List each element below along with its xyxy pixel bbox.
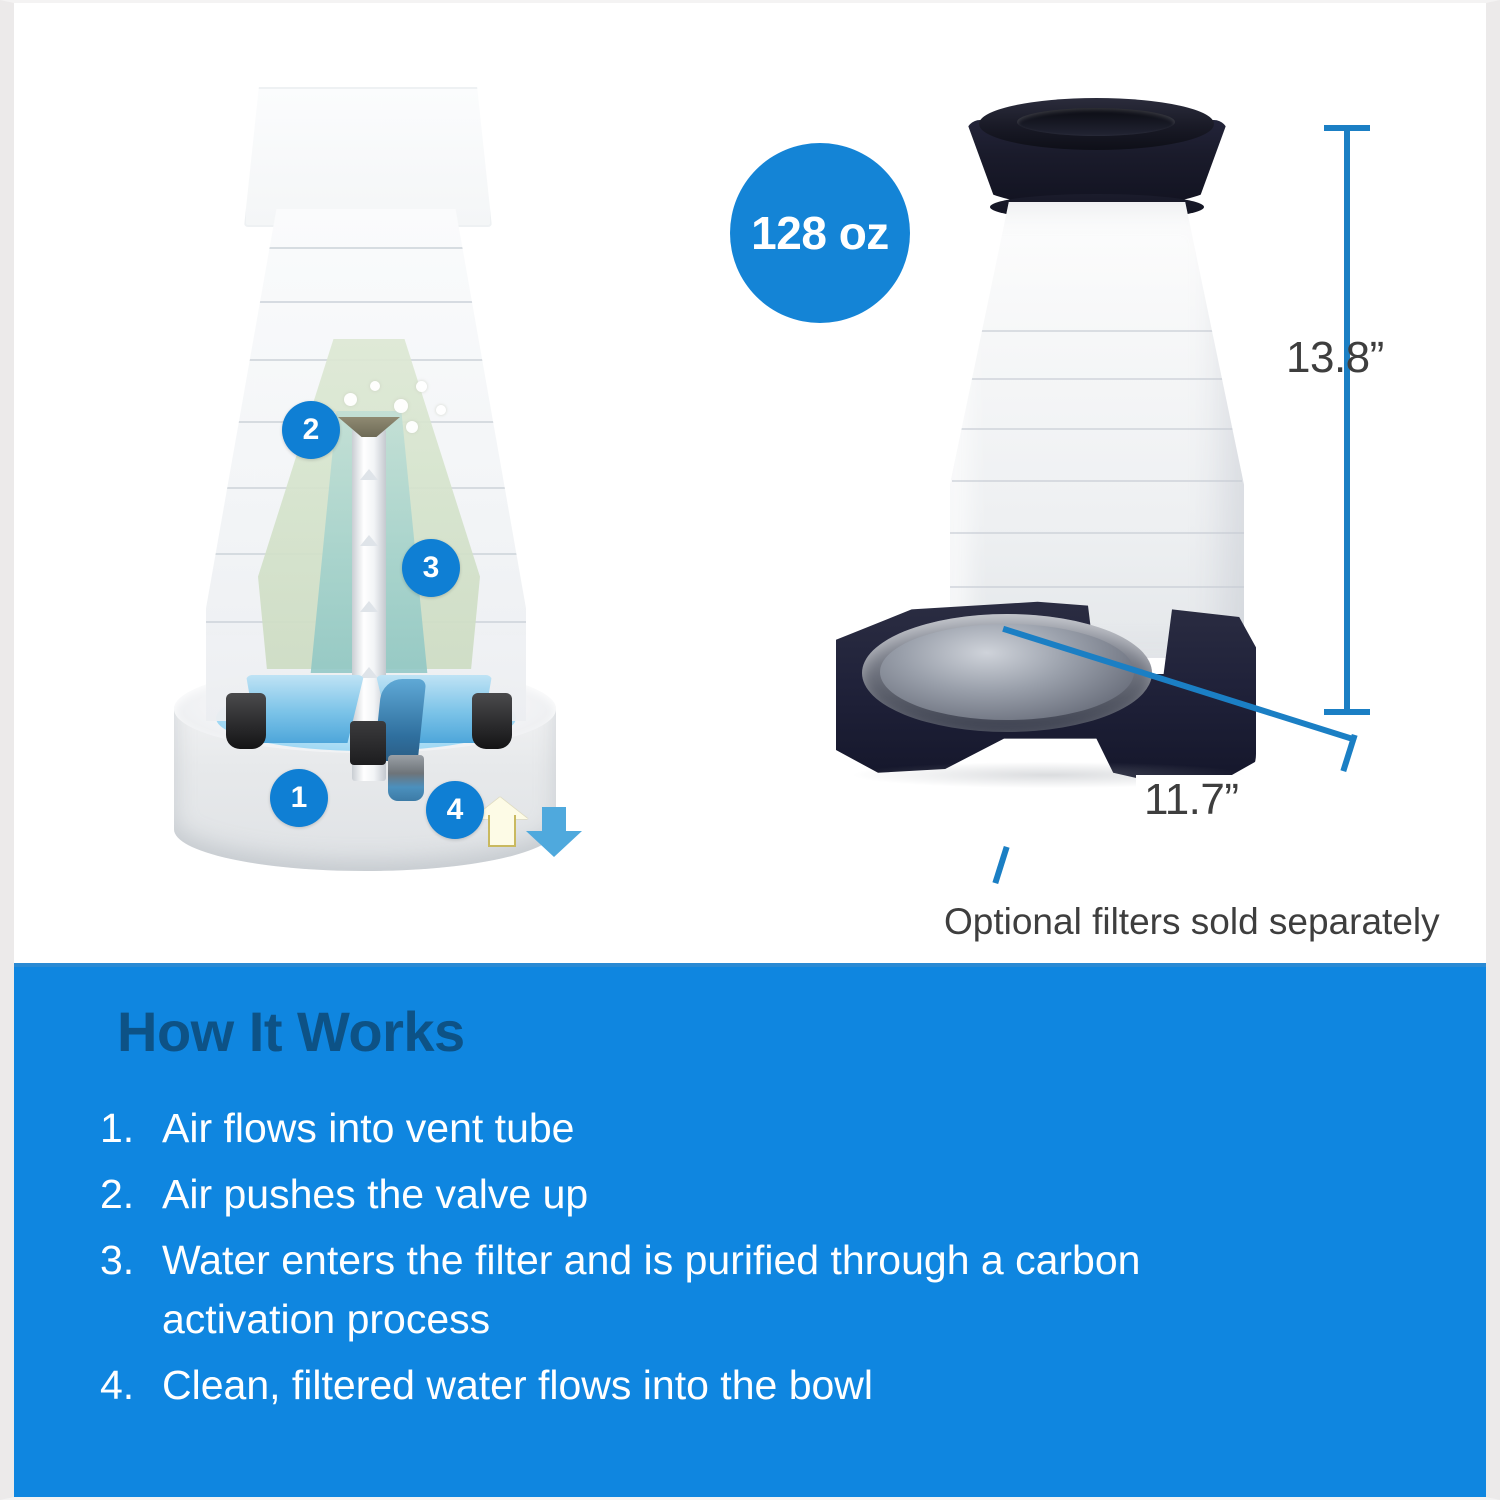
list-item-number: 2. [100,1165,162,1223]
width-dimension-label: 11.7” [1136,775,1247,825]
list-item-text: Air pushes the valve up [162,1165,588,1223]
height-dimension-label: 13.8” [1286,333,1384,383]
list-item: 4. Clean, filtered water flows into the … [100,1356,1400,1414]
height-dimension-line [1344,125,1350,715]
infographic-canvas: 1 2 3 4 128 oz [14,3,1486,1497]
how-it-works-list: 1. Air flows into vent tube 2. Air pushe… [100,1099,1400,1422]
callout-badge-4: 4 [426,781,484,839]
callout-badge-2-label: 2 [303,415,320,445]
list-item: 1. Air flows into vent tube [100,1099,1400,1157]
callout-badge-3: 3 [402,539,460,597]
list-item-text: Water enters the filter and is purified … [162,1231,1302,1347]
list-item-text: Air flows into vent tube [162,1099,574,1157]
cutaway-diagram: 1 2 3 4 [154,81,574,871]
product-reservoir [950,202,1244,658]
valve-collar-left [226,693,266,749]
list-item: 2. Air pushes the valve up [100,1165,1400,1223]
callout-badge-1: 1 [270,769,328,827]
filter-disclaimer: Optional filters sold separately [944,901,1440,943]
valve-stem [350,721,386,765]
callout-badge-4-label: 4 [447,795,464,825]
product-photo [814,98,1274,788]
list-item-number: 3. [100,1231,162,1289]
list-item-number: 1. [100,1099,162,1157]
product-bowl-interior [880,624,1134,720]
cutaway-valve-assembly [228,661,510,757]
height-dimension-cap-top [1324,125,1370,131]
infographic-page: 1 2 3 4 128 oz [0,0,1500,1500]
callout-badge-1-label: 1 [291,783,308,813]
list-item-text: Clean, filtered water flows into the bow… [162,1356,873,1414]
water-flow-arrow-icon [526,807,582,857]
valve-collar-right [472,693,512,749]
list-item-number: 4. [100,1356,162,1414]
how-it-works-panel: How It Works 1. Air flows into vent tube… [14,963,1486,1497]
how-it-works-title: How It Works [117,999,465,1064]
product-lid-handle-slot [1017,108,1175,136]
list-item: 3. Water enters the filter and is purifi… [100,1231,1400,1347]
callout-badge-3-label: 3 [423,553,440,583]
cutaway-reservoir-neck [244,87,492,227]
width-dimension-cap-left [992,846,1009,884]
height-dimension-cap-bottom [1324,709,1370,715]
valve-nozzle [388,755,424,801]
product-images-area: 1 2 3 4 128 oz [14,3,1486,963]
callout-badge-2: 2 [282,401,340,459]
width-dimension-cap-right [1340,734,1357,772]
